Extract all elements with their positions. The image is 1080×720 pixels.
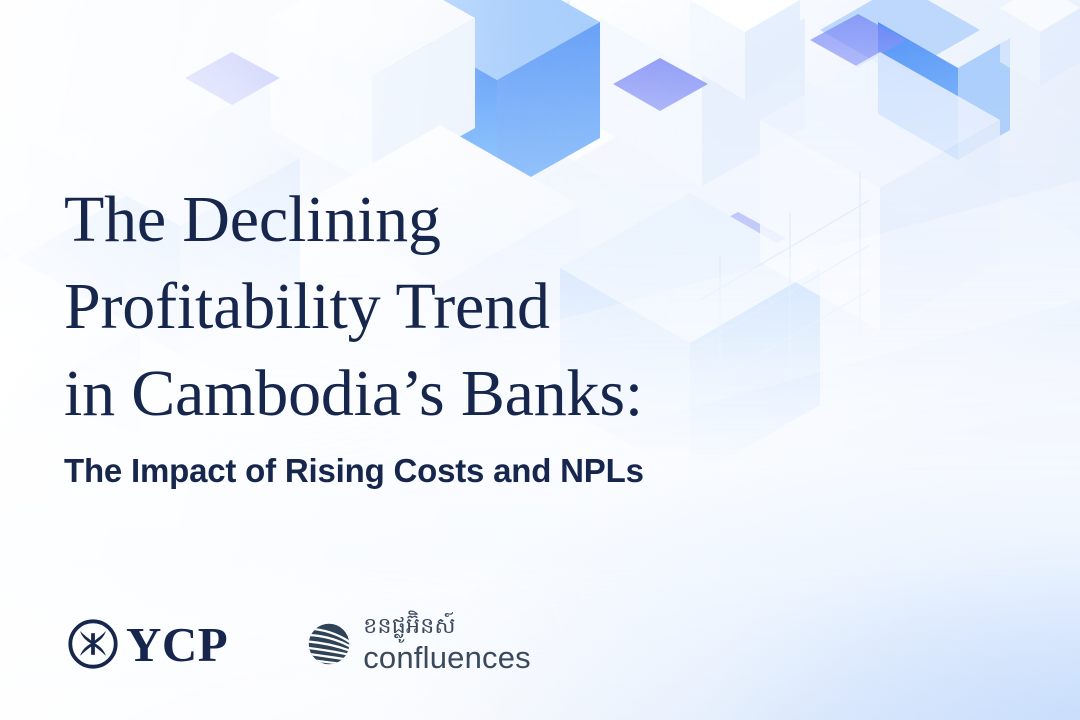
title-line-2: Profitability Trend — [64, 263, 824, 350]
confluences-wordmark: confluences — [363, 641, 531, 674]
ycp-logo: YCP — [66, 617, 228, 671]
ycp-wordmark: YCP — [126, 620, 228, 669]
logo-row: YCP ខនផ្លូអ៊ិនស៍ confluen — [66, 614, 531, 674]
title-line-3: in Cambodia’s Banks: — [64, 350, 824, 437]
report-cover: The Declining Profitability Trend in Cam… — [0, 0, 1080, 720]
confluences-khmer-name: ខនផ្លូអ៊ិនស៍ — [363, 614, 531, 640]
page-subtitle: The Impact of Rising Costs and NPLs — [64, 451, 824, 491]
right-blue-cube — [820, 0, 1010, 160]
ycp-circle-y-icon — [66, 617, 120, 671]
hero-blue-cube — [395, 0, 600, 196]
cover-text-block: The Declining Profitability Trend in Cam… — [64, 176, 824, 491]
confluences-fan-circle-icon — [306, 621, 352, 667]
confluences-logo: ខនផ្លូអ៊ិនស៍ confluences — [306, 614, 531, 674]
title-line-1: The Declining — [64, 176, 824, 263]
confluences-text-lockup: ខនផ្លូអ៊ិនស៍ confluences — [363, 614, 531, 674]
page-title: The Declining Profitability Trend in Cam… — [64, 176, 824, 437]
